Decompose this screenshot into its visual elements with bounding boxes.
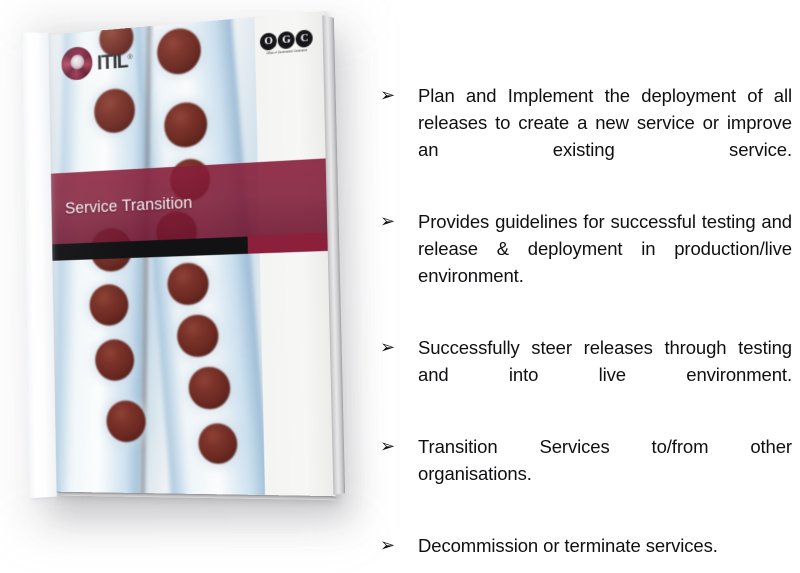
ogc-letter-o: O: [260, 32, 277, 51]
itil-trademark: ®: [128, 54, 132, 61]
bullet-item: ➢Provides guidelines for successful test…: [378, 208, 792, 316]
cover-title: Service Transition: [47, 192, 193, 219]
bullet-item: ➢Plan and Implement the deployment of al…: [378, 82, 792, 190]
book-front-cover: ITIL® O G C Office of Government Commerc…: [47, 11, 336, 497]
book-3d: ITIL® O G C Office of Government Commerc…: [47, 11, 336, 497]
ogc-letter-c: C: [296, 29, 313, 48]
blood-cell: [168, 262, 209, 305]
bullet-list: ➢Plan and Implement the deployment of al…: [378, 82, 792, 573]
blood-cell: [106, 400, 146, 442]
bullet-arrow-icon: ➢: [378, 208, 418, 235]
bullet-arrow-icon: ➢: [378, 532, 418, 559]
blood-cell: [177, 314, 218, 357]
ogc-subtitle: Office of Government Commerce: [261, 48, 314, 57]
bullet-item: ➢Successfully steer releases through tes…: [378, 334, 792, 415]
bullet-text: Decommission or terminate services.: [418, 532, 792, 559]
bullet-item: ➢Transition Services to/from other organ…: [378, 433, 792, 514]
bullet-item: ➢Decommission or terminate services.: [378, 532, 792, 559]
bullet-arrow-icon: ➢: [378, 82, 418, 109]
bullet-text: Plan and Implement the deployment of all…: [418, 82, 792, 190]
bullet-text: Successfully steer releases through test…: [418, 334, 792, 415]
itil-wordmark-text: ITIL: [97, 50, 128, 75]
bullet-arrow-icon: ➢: [378, 334, 418, 361]
itil-wordmark: ITIL®: [97, 49, 132, 75]
itil-logo: ITIL®: [61, 43, 132, 82]
bullet-arrow-icon: ➢: [378, 433, 418, 460]
bullet-text: Transition Services to/from other organi…: [418, 433, 792, 514]
bullet-text: Provides guidelines for successful testi…: [418, 208, 792, 316]
ogc-letter-g: G: [278, 31, 295, 50]
itil-swirl-icon: [61, 46, 92, 81]
book-image: ITIL® O G C Office of Government Commerc…: [0, 0, 380, 573]
slide-canvas: ITIL® O G C Office of Government Commerc…: [0, 0, 800, 573]
blood-cell: [164, 101, 207, 148]
cover-title-band: Service Transition: [47, 158, 336, 245]
blood-cell: [198, 424, 238, 465]
blood-cell: [189, 366, 231, 409]
ogc-letter-circles: O G C: [260, 29, 313, 51]
ogc-logo: O G C Office of Government Commerce: [260, 29, 313, 57]
cover-red-rule: [248, 232, 336, 254]
